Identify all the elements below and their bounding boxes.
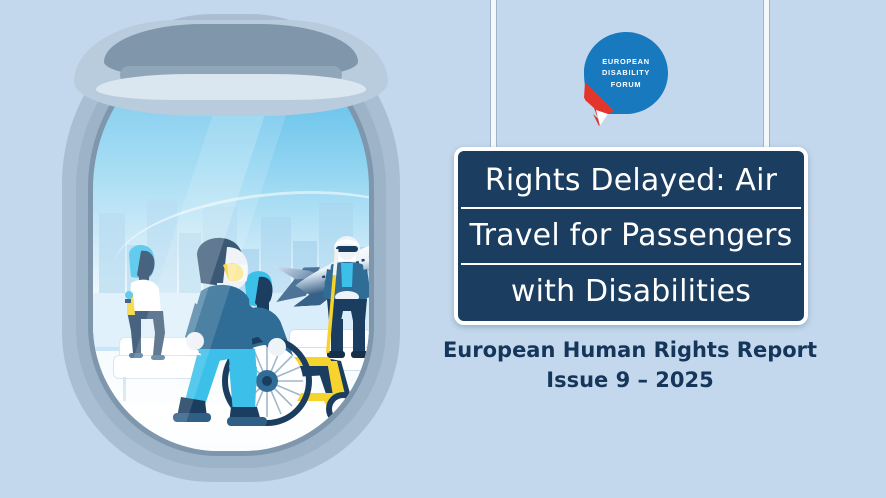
- airplane-window-illustration: [62, 14, 400, 482]
- logo-line-3: FORUM: [578, 79, 674, 90]
- sign-row-2: Travel for Passengers: [461, 207, 801, 262]
- european-disability-forum-logo: EUROPEAN DISABILITY FORUM: [578, 30, 674, 126]
- logo-line-1: EUROPEAN: [578, 56, 674, 67]
- caption-line-1: European Human Rights Report: [430, 336, 830, 366]
- sign-row-3: with Disabilities: [461, 263, 801, 318]
- report-caption: European Human Rights Report Issue 9 – 2…: [430, 336, 830, 396]
- sign-hanger-rod-left: [490, 0, 497, 152]
- logo-line-2: DISABILITY: [578, 67, 674, 78]
- caption-line-2: Issue 9 – 2025: [430, 366, 830, 396]
- window-shade-lip: [96, 74, 366, 100]
- sign-row-1: Rights Delayed: Air: [461, 154, 801, 207]
- poster-canvas: EUROPEAN DISABILITY FORUM Rights Delayed…: [0, 0, 886, 498]
- sign-hanger-rod-right: [763, 0, 770, 152]
- title-sign: Rights Delayed: Air Travel for Passenger…: [454, 147, 808, 325]
- logo-wordmark: EUROPEAN DISABILITY FORUM: [578, 56, 674, 90]
